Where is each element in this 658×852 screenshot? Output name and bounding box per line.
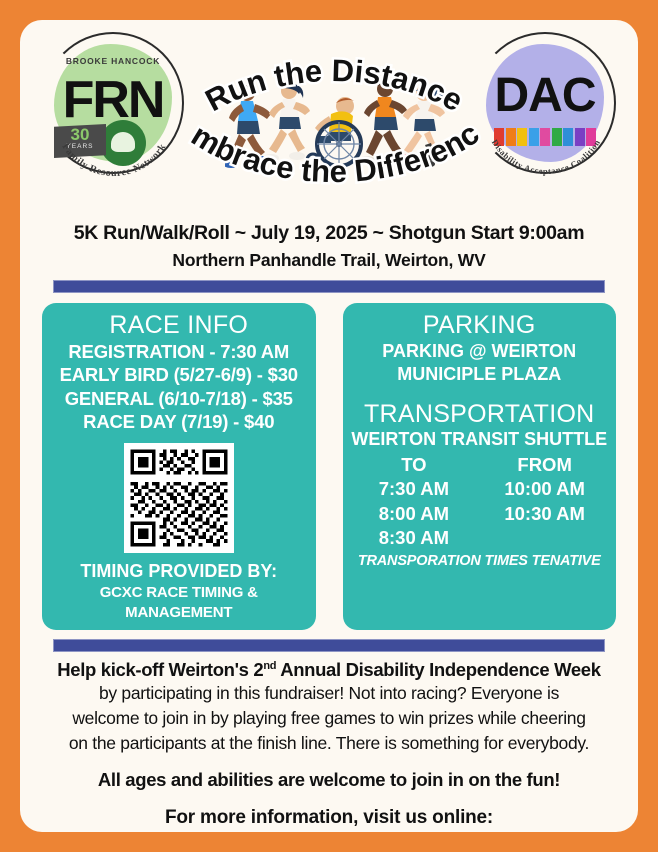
timing-provider: GCXC RACE TIMING & MANAGEMENT <box>48 583 310 622</box>
body-headline-post: Annual Disability Independence Week <box>276 659 601 680</box>
parking-title: PARKING <box>349 311 611 340</box>
shuttle-name: WEIRTON TRANSIT SHUTTLE <box>349 428 611 451</box>
shuttle-row: 8:00 AM 10:30 AM <box>349 502 611 527</box>
footer: For more information, visit us online: F… <box>34 807 624 832</box>
body-line-2: by participating in this fundraiser! Not… <box>34 681 624 706</box>
race-info-general: GENERAL (6/10-7/18) - $35 <box>48 387 310 410</box>
shuttle-from-time-empty <box>479 526 610 551</box>
parking-box: PARKING PARKING @ WEIRTON MUNICIPLE PLAZ… <box>343 303 617 630</box>
body-headline-ordinal: nd <box>263 660 276 672</box>
body-line-4: on the participants at the finish line. … <box>34 731 624 756</box>
divider-bar-top <box>53 280 605 293</box>
shuttle-col-from-header: FROM <box>479 453 610 478</box>
shuttle-to-time: 8:00 AM <box>349 502 480 527</box>
body-headline: Help kick-off Weirton's 2nd Annual Disab… <box>34 659 624 681</box>
race-info-box: RACE INFO REGISTRATION - 7:30 AM EARLY B… <box>42 303 316 630</box>
title-arc-top: Run the Distance <box>20 28 638 138</box>
body-line-3: welcome to join in by playing free games… <box>34 706 624 731</box>
body-copy: Help kick-off Weirton's 2nd Annual Disab… <box>34 659 624 791</box>
hero-section: BROOKE HANCOCK FRN 30 YEARS Family Resou… <box>20 20 638 218</box>
shuttle-header-row: TO FROM <box>349 453 611 478</box>
arc-top-label: Run the Distance <box>200 53 469 118</box>
info-boxes: RACE INFO REGISTRATION - 7:30 AM EARLY B… <box>42 303 616 630</box>
footer-heading: For more information, visit us online: <box>34 807 624 829</box>
race-info-early-bird: EARLY BIRD (5/27-6/9) - $30 <box>48 363 310 386</box>
shuttle-to-time: 7:30 AM <box>349 477 480 502</box>
race-info-race-day: RACE DAY (7/19) - $40 <box>48 410 310 433</box>
shuttle-row: 8:30 AM <box>349 526 611 551</box>
race-info-title: RACE INFO <box>48 311 310 340</box>
transportation-note: TRANSPORATION TIMES TENATIVE <box>349 553 611 569</box>
body-callout: All ages and abilities are welcome to jo… <box>34 769 624 791</box>
divider-bar-bottom <box>53 639 605 652</box>
event-line-location: Northern Panhandle Trail, Weirton, WV <box>26 250 632 271</box>
spacer <box>349 387 611 400</box>
registration-qr-code[interactable] <box>124 443 234 553</box>
svg-text:Run the Distance: Run the Distance <box>200 53 469 118</box>
shuttle-col-to-header: TO <box>349 453 480 478</box>
transportation-title: TRANSPORTATION <box>349 400 611 429</box>
shuttle-to-time: 8:30 AM <box>349 526 480 551</box>
shuttle-from-time: 10:00 AM <box>479 477 610 502</box>
race-info-registration: REGISTRATION - 7:30 AM <box>48 340 310 363</box>
timing-label: TIMING PROVIDED BY: <box>48 560 310 583</box>
shuttle-from-time: 10:30 AM <box>479 502 610 527</box>
qr-code-wrap[interactable] <box>48 443 310 553</box>
body-headline-pre: Help kick-off Weirton's 2 <box>57 659 263 680</box>
title-arc-bottom: Embrace the Difference <box>20 128 638 238</box>
parking-line-2: MUNICIPLE PLAZA <box>349 363 611 386</box>
flyer-card: BROOKE HANCOCK FRN 30 YEARS Family Resou… <box>20 20 638 832</box>
shuttle-row: 7:30 AM 10:00 AM <box>349 477 611 502</box>
shuttle-schedule-table: TO FROM 7:30 AM 10:00 AM 8:00 AM 10:30 A… <box>349 453 611 551</box>
parking-line-1: PARKING @ WEIRTON <box>349 340 611 363</box>
